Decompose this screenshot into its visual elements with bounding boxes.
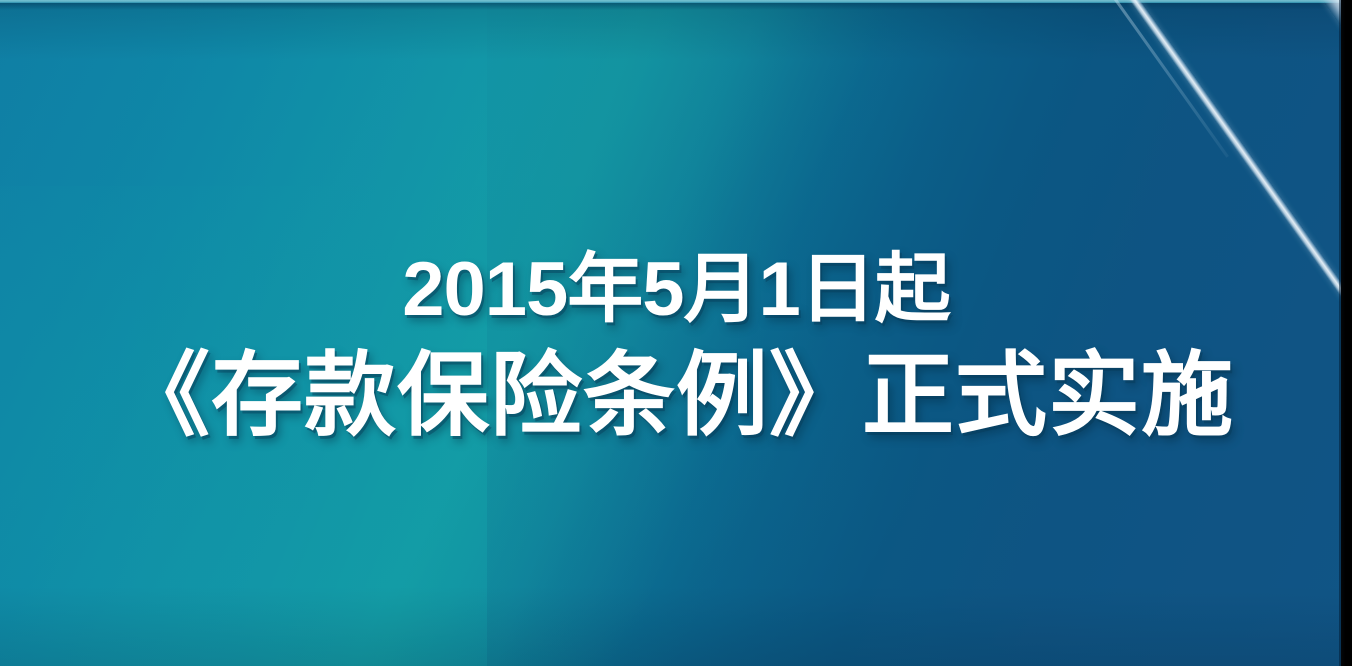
top-shadow-band: [0, 3, 1352, 10]
headline-line-1: 2015年5月1日起: [0, 252, 1352, 328]
right-frame-strip: [1341, 0, 1352, 666]
headline-line-2: 《存款保险条例》正式实施: [0, 350, 1352, 442]
title-slide: 2015年5月1日起 《存款保险条例》正式实施: [0, 0, 1352, 666]
headline-block: 2015年5月1日起 《存款保险条例》正式实施: [0, 252, 1352, 442]
